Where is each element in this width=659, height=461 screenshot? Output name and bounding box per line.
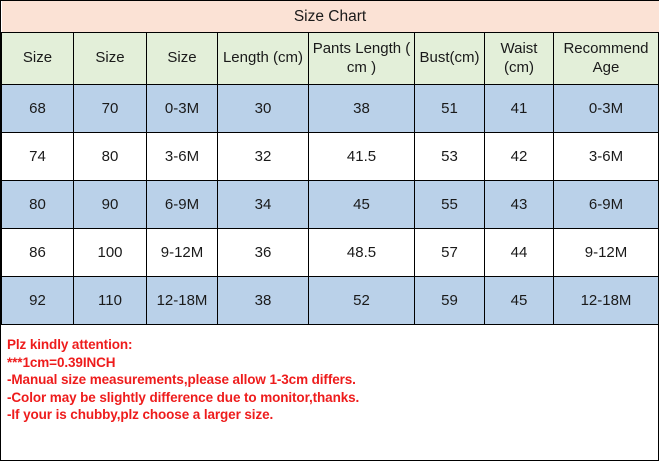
- cell-length: 30: [218, 85, 309, 133]
- column-header-recommend-age: Recommend Age: [554, 33, 659, 85]
- cell-size-1: 86: [2, 229, 74, 277]
- cell-recommend-age: 12-18M: [554, 277, 659, 325]
- cell-size-2: 70: [74, 85, 147, 133]
- cell-pants-length: 52: [309, 277, 415, 325]
- column-header-waist: Waist (cm): [485, 33, 554, 85]
- cell-pants-length: 45: [309, 181, 415, 229]
- table-row: 68 70 0-3M 30 38 51 41 0-3M: [2, 85, 659, 133]
- table-row: 74 80 3-6M 32 41.5 53 42 3-6M: [2, 133, 659, 181]
- cell-size-1: 80: [2, 181, 74, 229]
- table-row: 92 110 12-18M 38 52 59 45 12-18M: [2, 277, 659, 325]
- note-line-measurement: -Manual size measurements,please allow 1…: [7, 371, 658, 389]
- cell-size-1: 68: [2, 85, 74, 133]
- cell-size-1: 92: [2, 277, 74, 325]
- cell-bust: 57: [415, 229, 485, 277]
- column-header-length: Length (cm): [218, 33, 309, 85]
- note-line-title: Plz kindly attention:: [7, 336, 658, 354]
- column-header-size-2: Size: [74, 33, 147, 85]
- cell-size-3: 12-18M: [147, 277, 218, 325]
- cell-recommend-age: 0-3M: [554, 85, 659, 133]
- table-header-row: Size Size Size Length (cm) Pants Length …: [2, 33, 659, 85]
- cell-waist: 41: [485, 85, 554, 133]
- table-title-row: Size Chart: [2, 1, 659, 33]
- cell-bust: 51: [415, 85, 485, 133]
- cell-length: 36: [218, 229, 309, 277]
- cell-size-2: 100: [74, 229, 147, 277]
- table-row: 86 100 9-12M 36 48.5 57 44 9-12M: [2, 229, 659, 277]
- cell-waist: 42: [485, 133, 554, 181]
- size-chart-table: Size Chart Size Size Size Length (cm) Pa…: [1, 1, 659, 325]
- cell-pants-length: 38: [309, 85, 415, 133]
- cell-pants-length: 41.5: [309, 133, 415, 181]
- cell-bust: 55: [415, 181, 485, 229]
- column-header-bust: Bust(cm): [415, 33, 485, 85]
- cell-size-3: 6-9M: [147, 181, 218, 229]
- cell-size-2: 110: [74, 277, 147, 325]
- note-line-color: -Color may be slightly difference due to…: [7, 389, 658, 407]
- cell-size-2: 80: [74, 133, 147, 181]
- attention-notes: Plz kindly attention: ***1cm=0.39INCH -M…: [1, 325, 658, 424]
- cell-length: 38: [218, 277, 309, 325]
- cell-size-2: 90: [74, 181, 147, 229]
- cell-recommend-age: 6-9M: [554, 181, 659, 229]
- cell-waist: 45: [485, 277, 554, 325]
- cell-size-3: 9-12M: [147, 229, 218, 277]
- column-header-size-3: Size: [147, 33, 218, 85]
- cell-length: 34: [218, 181, 309, 229]
- column-header-size-1: Size: [2, 33, 74, 85]
- size-chart-document: Size Chart Size Size Size Length (cm) Pa…: [0, 0, 659, 461]
- page-title: Size Chart: [2, 1, 659, 33]
- cell-bust: 59: [415, 277, 485, 325]
- table-row: 80 90 6-9M 34 45 55 43 6-9M: [2, 181, 659, 229]
- cell-size-3: 3-6M: [147, 133, 218, 181]
- cell-pants-length: 48.5: [309, 229, 415, 277]
- note-line-conversion: ***1cm=0.39INCH: [7, 354, 658, 372]
- column-header-pants-length: Pants Length ( cm ): [309, 33, 415, 85]
- cell-recommend-age: 3-6M: [554, 133, 659, 181]
- cell-size-1: 74: [2, 133, 74, 181]
- cell-waist: 43: [485, 181, 554, 229]
- cell-size-3: 0-3M: [147, 85, 218, 133]
- cell-bust: 53: [415, 133, 485, 181]
- note-line-sizing-advice: -If your is chubby,plz choose a larger s…: [7, 406, 658, 424]
- cell-recommend-age: 9-12M: [554, 229, 659, 277]
- cell-length: 32: [218, 133, 309, 181]
- cell-waist: 44: [485, 229, 554, 277]
